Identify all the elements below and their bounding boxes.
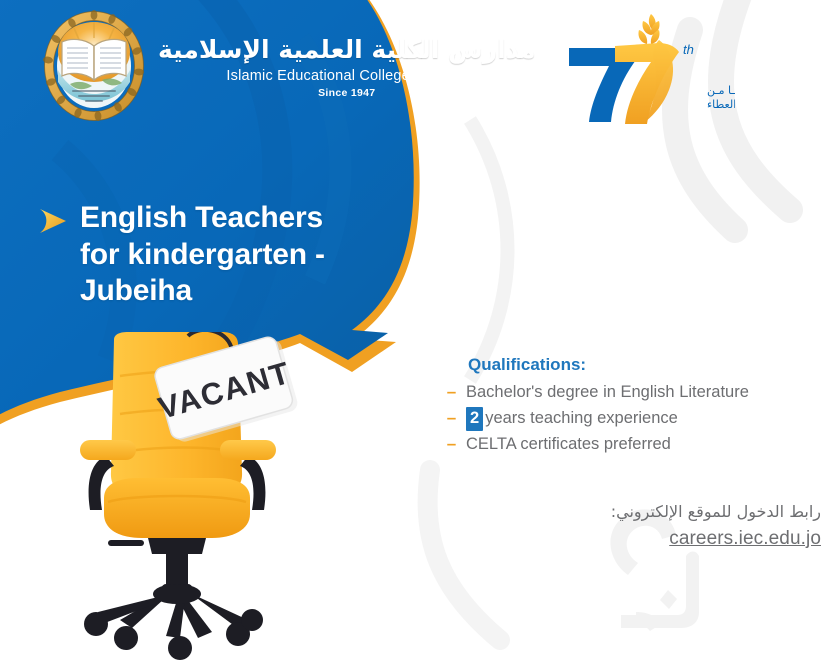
school-name-english: Islamic Educational College Schools xyxy=(226,68,467,84)
arrow-right-icon xyxy=(38,208,68,239)
chair-armrest-left xyxy=(80,440,136,460)
arrow-right-svg xyxy=(38,208,68,234)
qualifications-section: Qualifications: – Bachelor's degree in E… xyxy=(446,355,816,459)
qualification-item: – CELTA certificates preferred xyxy=(446,433,816,457)
application-link-label-arabic: رابط الدخول للموقع الإلكتروني: xyxy=(446,500,821,524)
anniversary-ordinal: th xyxy=(683,42,694,57)
chair-svg: VACANT xyxy=(62,332,362,660)
qualification-text-rest: years teaching experience xyxy=(485,409,678,427)
years-highlight-badge: 2 xyxy=(466,407,483,431)
qualifications-title: Qualifications: xyxy=(468,355,816,375)
anniversary-caption-line1: عـامـا مـن xyxy=(707,84,735,97)
since-year-label: Since 1947 xyxy=(318,87,375,99)
school-name-arabic: مدارس الكلية العلمية الإسلامية xyxy=(158,36,536,65)
school-crest-emblem xyxy=(40,10,148,122)
qualification-item: – Bachelor's degree in English Literatur… xyxy=(446,381,816,405)
qualification-item: – 2years teaching experience xyxy=(446,407,816,431)
school-logo-block: مدارس الكلية العلمية الإسلامية Islamic E… xyxy=(40,8,385,123)
chair-seat xyxy=(104,478,250,538)
job-title-line-2: for kindergarten - xyxy=(80,237,325,274)
qualification-text: 2years teaching experience xyxy=(466,407,678,431)
bullet-dash-icon: – xyxy=(446,409,457,426)
application-link-block: رابط الدخول للموقع الإلكتروني: careers.i… xyxy=(446,500,821,550)
bullet-dash-icon: – xyxy=(446,383,457,400)
office-chair-illustration: VACANT xyxy=(62,332,362,660)
job-title: English Teachers for kindergarten - Jube… xyxy=(80,200,325,310)
job-advertisement-poster: مدارس الكلية العلمية الإسلامية Islamic E… xyxy=(0,0,828,660)
headline-block: English Teachers for kindergarten - Jube… xyxy=(38,200,368,310)
chair-gas-lift xyxy=(108,538,206,594)
bullet-dash-icon: – xyxy=(446,435,457,452)
wheat-sprig-icon xyxy=(638,14,659,44)
careers-website-link[interactable]: careers.iec.edu.jo xyxy=(446,528,821,550)
anniversary-svg: th عـامـا مـن التميز والعطاء xyxy=(555,12,735,130)
qualification-text: CELTA certificates preferred xyxy=(466,433,671,457)
logo-text-group: مدارس الكلية العلمية الإسلامية Islamic E… xyxy=(158,32,536,99)
chair-armrest-right xyxy=(220,440,276,460)
qualification-text: Bachelor's degree in English Literature xyxy=(466,381,749,405)
anniversary-caption-line2: التميز والعطاء xyxy=(707,98,735,111)
job-title-line-1: English Teachers xyxy=(80,200,325,237)
job-title-line-3: Jubeiha xyxy=(80,273,325,310)
anniversary-logo: th عـامـا مـن التميز والعطاء xyxy=(555,12,735,130)
emblem-svg xyxy=(40,10,148,122)
